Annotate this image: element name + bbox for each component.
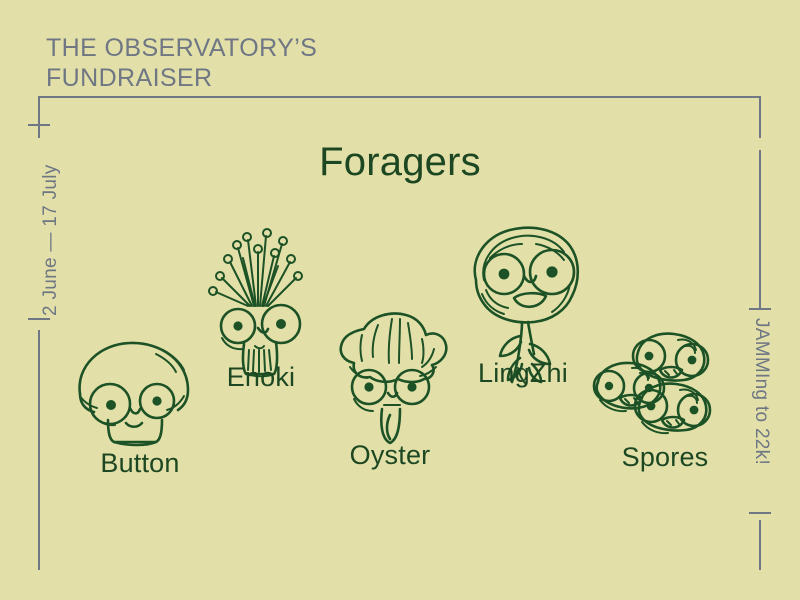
frame-right-lower-rule bbox=[759, 520, 761, 570]
enoki-mushroom-icon bbox=[196, 222, 326, 382]
frame-left-lower-rule bbox=[38, 330, 40, 570]
page-title: Foragers bbox=[0, 140, 800, 185]
frame-left-bottom-tick bbox=[28, 318, 50, 320]
specimen-label-lingzhi: LingZhi bbox=[448, 358, 598, 389]
frame-right-corner-line bbox=[759, 96, 761, 138]
specimen-label-enoki: Enoki bbox=[196, 362, 326, 393]
poster-canvas: THE OBSERVATORY’S FUNDRAISER 2 June — 17… bbox=[0, 0, 800, 600]
spores-icon bbox=[592, 330, 738, 450]
frame-left-top-tick bbox=[28, 124, 50, 126]
specimen-spores[interactable]: Spores bbox=[592, 330, 738, 450]
specimen-label-spores: Spores bbox=[592, 442, 738, 473]
frame-right-top-tick bbox=[749, 308, 771, 310]
specimen-label-button: Button bbox=[60, 448, 220, 479]
frame-right-bottom-tick bbox=[749, 512, 771, 514]
goal-caption: JAMMIng to 22k! bbox=[750, 318, 772, 465]
frame-left-corner-line bbox=[38, 96, 40, 138]
specimen-label-oyster: Oyster bbox=[320, 440, 460, 471]
specimen-lingzhi[interactable]: LingZhi bbox=[448, 218, 598, 388]
specimen-enoki[interactable]: Enoki bbox=[196, 222, 326, 382]
date-range-caption: 2 June — 17 July bbox=[40, 164, 62, 316]
specimen-oyster[interactable]: Oyster bbox=[320, 305, 460, 435]
poster-header-title: THE OBSERVATORY’S FUNDRAISER bbox=[46, 34, 317, 93]
frame-top-line bbox=[38, 96, 761, 98]
oyster-mushroom-icon bbox=[320, 305, 460, 435]
